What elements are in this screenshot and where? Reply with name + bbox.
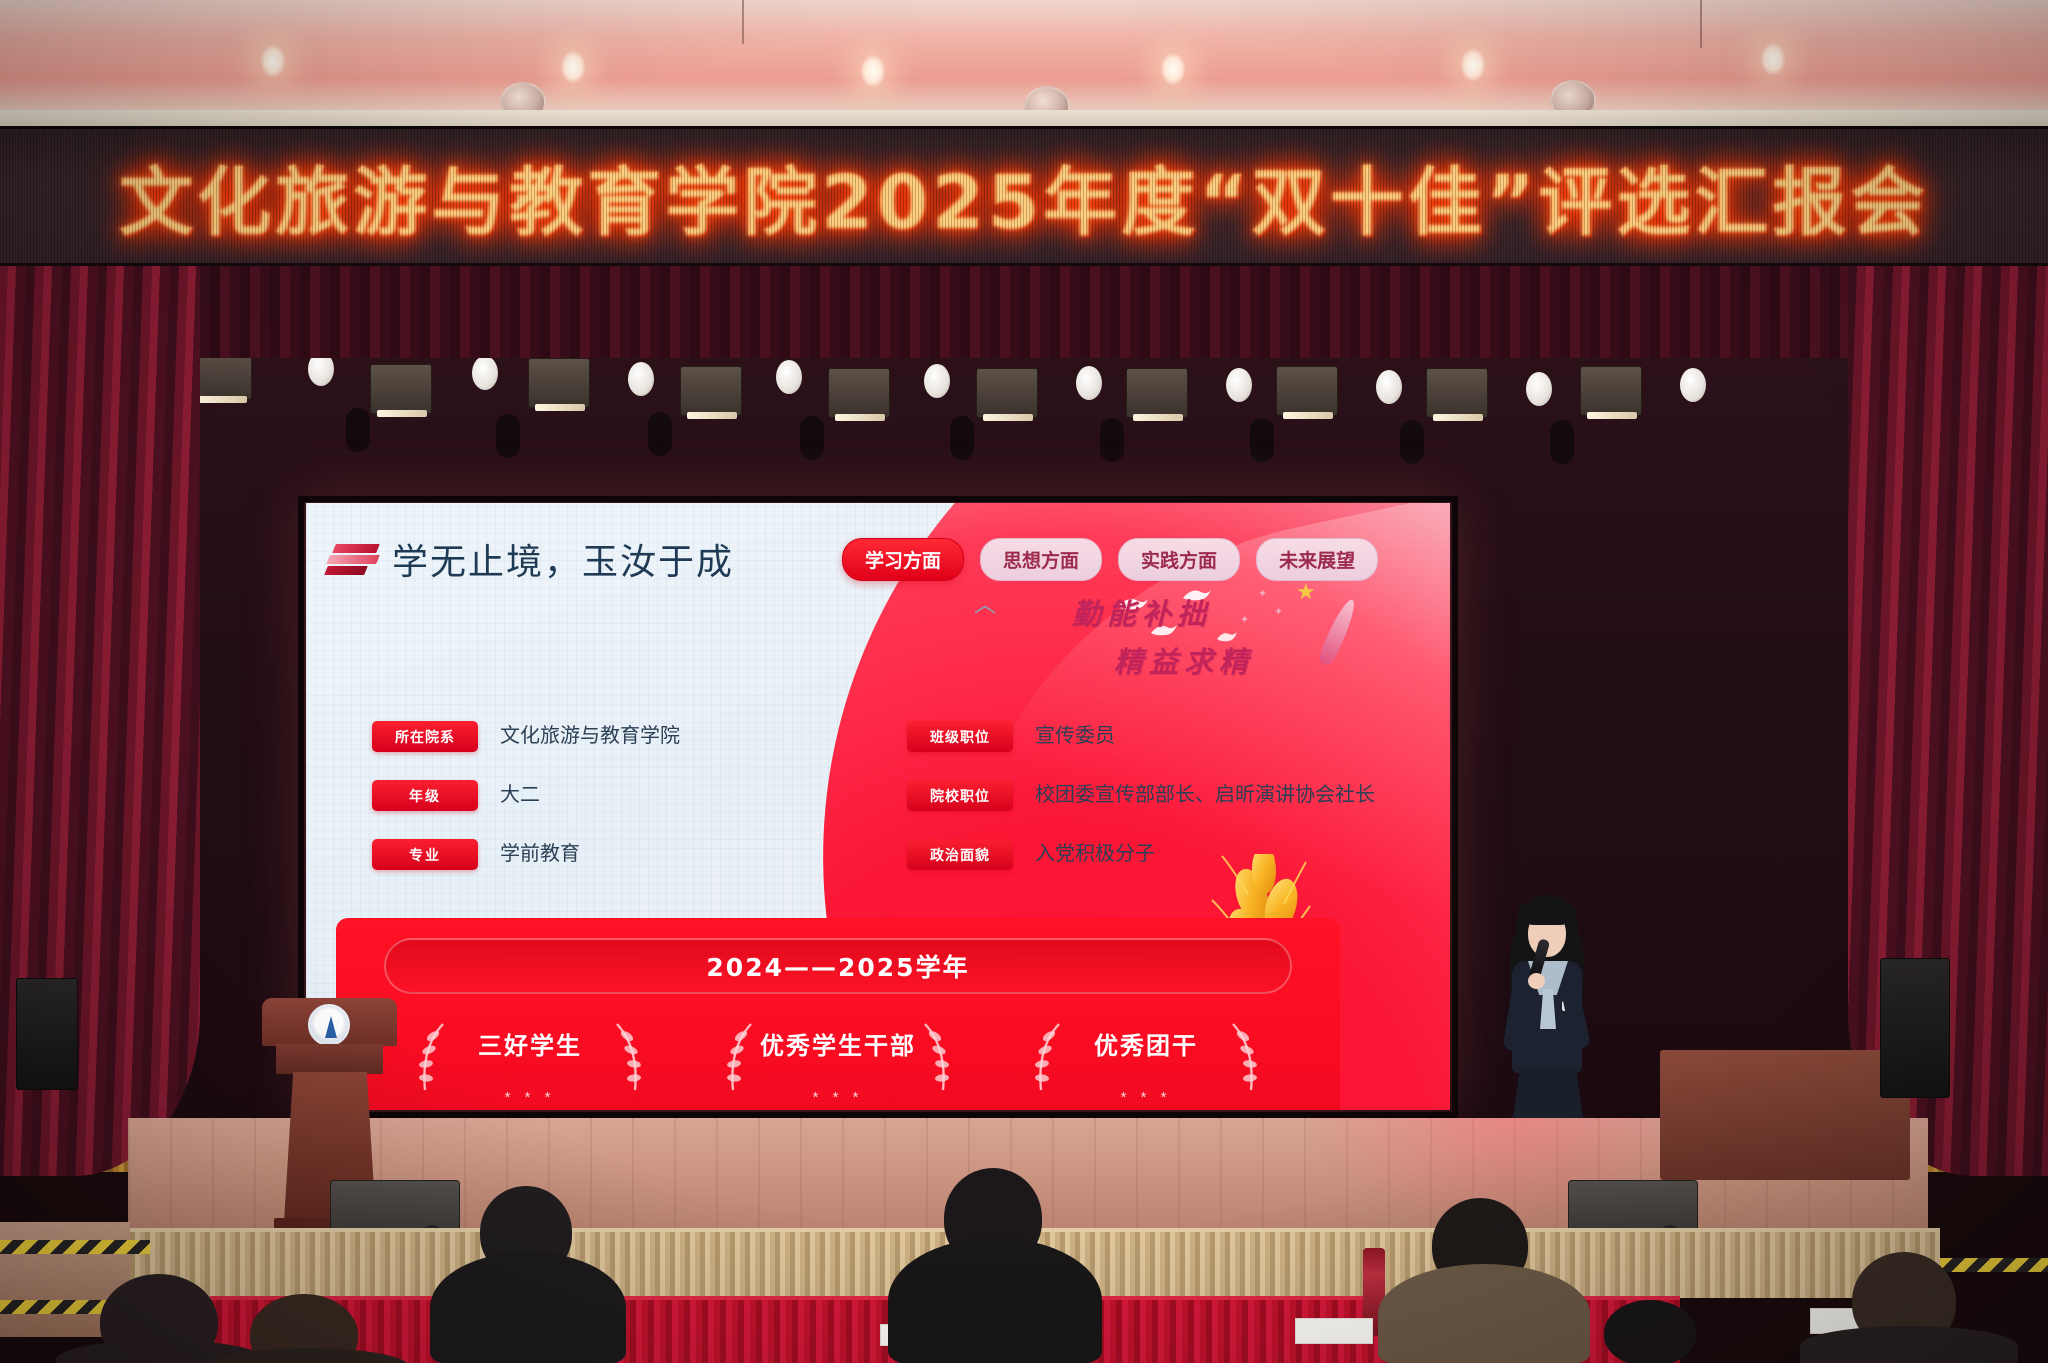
curtain-valance <box>0 266 2048 358</box>
info-row: 院校职位 校团委宣传部部长、启昕演讲协会社长 <box>907 780 1412 811</box>
info-row: 政治面貌 入党积极分子 <box>907 839 1412 870</box>
paper-sheet <box>1295 1318 1373 1344</box>
laurel-right-icon <box>607 1020 647 1094</box>
slide-title: 学无止境，玉汝于成 <box>392 533 734 585</box>
award-item: 优秀团干 * * * <box>1011 1014 1281 1106</box>
awards-period-bar: 2024——2025学年 <box>384 938 1292 994</box>
school-crest-icon <box>308 1004 350 1046</box>
info-row: 所在院系 文化旅游与教育学院 <box>372 721 877 752</box>
info-value-class-position: 宣传委员 <box>1035 721 1115 750</box>
ceiling <box>0 0 2048 132</box>
info-value-political-status: 入党积极分子 <box>1035 839 1155 868</box>
award-item: 三好学生 * * * <box>395 1014 665 1106</box>
info-label-department: 所在院系 <box>372 721 478 752</box>
audience-shoulders <box>888 1238 1102 1363</box>
ceiling-downlight <box>1460 48 1486 82</box>
info-row: 年级 大二 <box>372 780 877 811</box>
ceiling-wire <box>742 0 744 44</box>
award-item: 优秀学生干部 * * * <box>703 1014 973 1106</box>
ceiling-downlight <box>1760 42 1786 76</box>
hazard-stripe <box>1940 1258 2048 1272</box>
floor-speaker-right <box>1880 958 1950 1098</box>
awards-list: 三好学生 * * * <box>376 1014 1300 1106</box>
auditorium-scene: 文化旅游与教育学院2025年度“双十佳”评选汇报会 <box>0 0 2048 1363</box>
active-tab-caret-icon: ︿ <box>974 587 996 619</box>
sparkle-icon: ✦ <box>1258 587 1267 600</box>
audience-head <box>1604 1300 1696 1363</box>
floor-speaker-left <box>16 978 78 1090</box>
banner-title: 文化旅游与教育学院2025年度“双十佳”评选汇报会 <box>119 143 1928 250</box>
ceiling-downlight <box>560 50 586 84</box>
ceiling-downlight <box>860 54 886 88</box>
ceiling-wire <box>1700 0 1702 48</box>
laurel-left-icon <box>721 1020 761 1094</box>
stage-side-table-right <box>1660 1050 1910 1180</box>
info-label-political-status: 政治面貌 <box>907 839 1013 870</box>
laurel-right-icon <box>1223 1020 1263 1094</box>
laurel-right-icon <box>915 1020 955 1094</box>
title-decoration-icon <box>326 542 382 576</box>
slide-tab-bar[interactable]: 学习方面 思想方面 实践方面 未来展望 <box>842 538 1378 581</box>
led-presentation-screen[interactable]: 学无止境，玉汝于成 学习方面 思想方面 实践方面 未来展望 ︿ 勤能补拙 精益求… <box>306 503 1450 1110</box>
sparkle-icon: ✦ <box>1240 613 1249 626</box>
profile-info-right: 班级职位 宣传委员 院校职位 校团委宣传部部长、启昕演讲协会社长 政治面貌 入党… <box>907 721 1412 870</box>
tab-practice[interactable]: 实践方面 <box>1118 538 1240 581</box>
star-icon: ★ <box>1296 579 1316 605</box>
info-value-grade: 大二 <box>500 780 540 809</box>
profile-info-grid: 所在院系 文化旅游与教育学院 年级 大二 专业 学前教育 班级职位 宣传委员 <box>372 721 1412 870</box>
awards-panel: 2024——2025学年 三好学生 * * * <box>336 918 1340 1110</box>
tab-thought[interactable]: 思想方面 <box>980 538 1102 581</box>
audience-shoulders <box>430 1252 626 1363</box>
ceiling-downlight <box>260 44 286 78</box>
awards-period-label: 2024——2025学年 <box>706 948 969 984</box>
slide-header: 学无止境，玉汝于成 学习方面 思想方面 实践方面 未来展望 <box>306 533 1450 585</box>
info-row: 班级职位 宣传委员 <box>907 721 1412 752</box>
info-label-class-position: 班级职位 <box>907 721 1013 752</box>
ceiling-downlight <box>1160 52 1186 86</box>
profile-info-left: 所在院系 文化旅游与教育学院 年级 大二 专业 学前教育 <box>372 721 877 870</box>
info-value-major: 学前教育 <box>500 839 580 868</box>
info-label-major: 专业 <box>372 839 478 870</box>
tab-study[interactable]: 学习方面 <box>842 538 964 581</box>
audience-shoulders <box>1378 1264 1590 1363</box>
motto-line-2: 精益求精 <box>1114 639 1392 681</box>
calligraphy-motto: 勤能补拙 精益求精 ★ ✦ ✦ ✦ <box>1072 591 1392 685</box>
audience-shoulders <box>1800 1326 2018 1363</box>
tab-future[interactable]: 未来展望 <box>1256 538 1378 581</box>
event-banner: 文化旅游与教育学院2025年度“双十佳”评选汇报会 <box>0 126 2048 266</box>
laurel-left-icon <box>413 1020 453 1094</box>
info-label-school-position: 院校职位 <box>907 780 1013 811</box>
sparkle-icon: ✦ <box>1274 605 1283 618</box>
info-label-grade: 年级 <box>372 780 478 811</box>
info-row: 专业 学前教育 <box>372 839 877 870</box>
info-value-school-position: 校团委宣传部部长、启昕演讲协会社长 <box>1035 780 1375 809</box>
laurel-left-icon <box>1029 1020 1069 1094</box>
info-value-department: 文化旅游与教育学院 <box>500 721 680 750</box>
hazard-stripe <box>0 1240 150 1254</box>
